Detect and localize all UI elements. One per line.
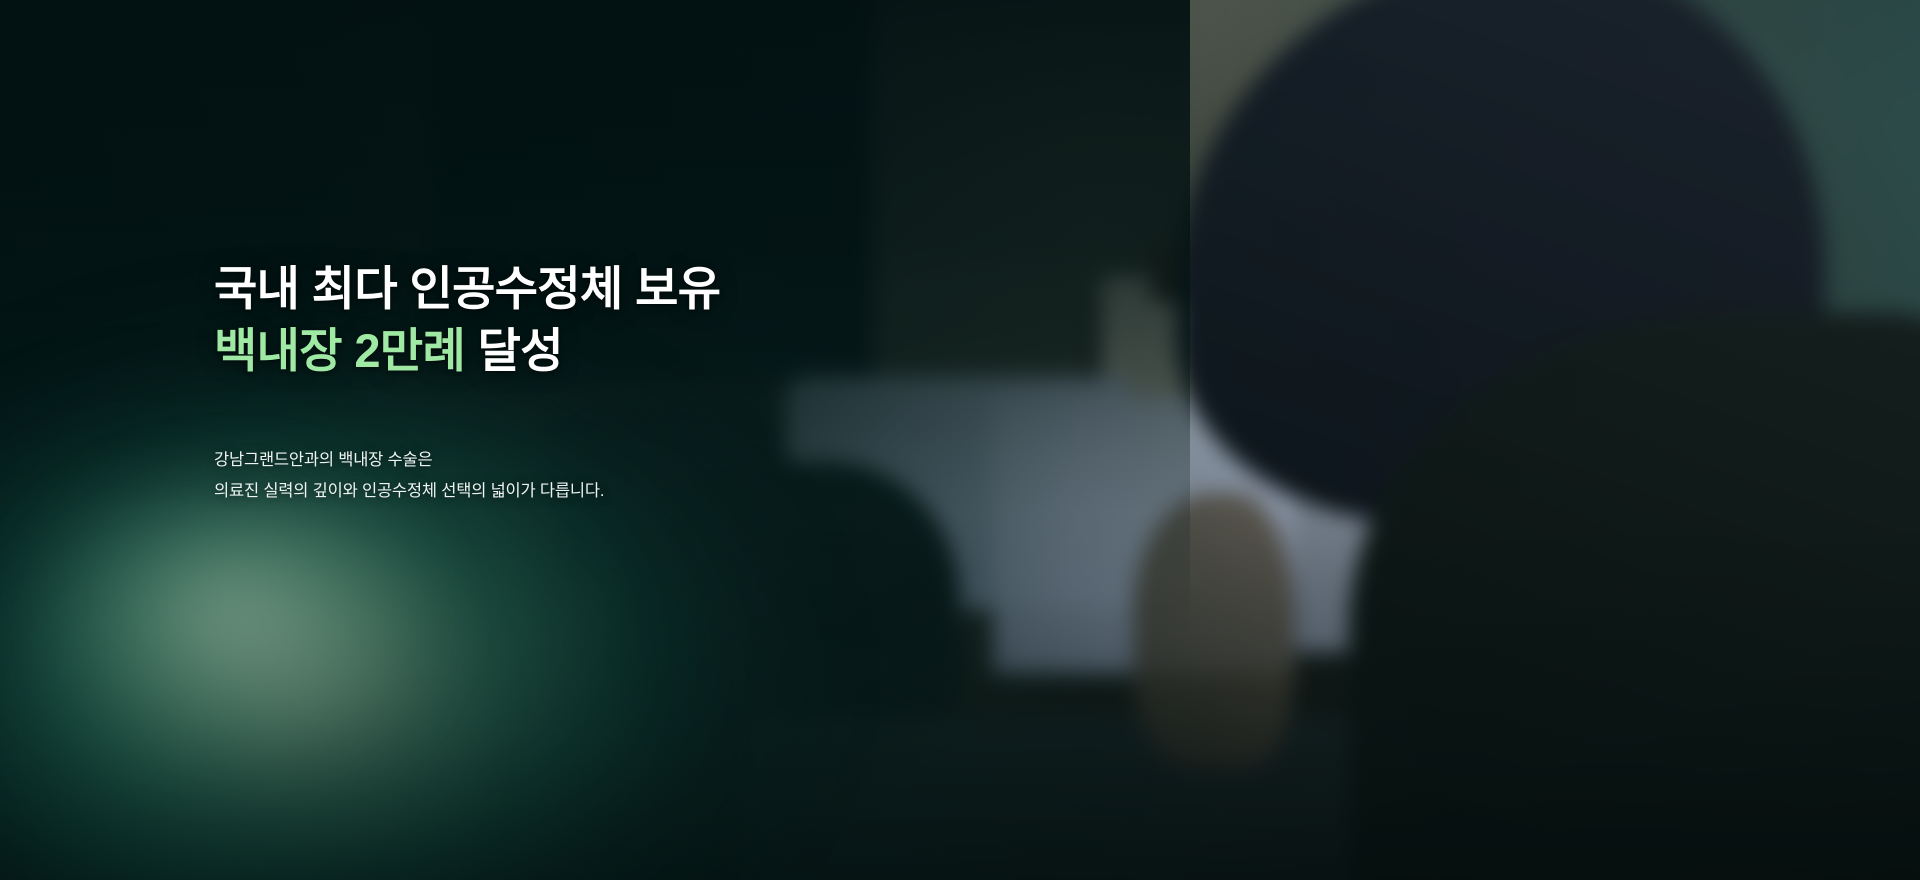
hero-copy: 국내 최다 인공수정체 보유 백내장 2만례 달성 강남그랜드안과의 백내장 수… bbox=[214, 258, 1114, 507]
hero-subtext: 강남그랜드안과의 백내장 수술은 의료진 실력의 깊이와 인공수정체 선택의 넓… bbox=[214, 445, 1114, 506]
headline-line-1: 국내 최다 인공수정체 보유 bbox=[214, 262, 720, 315]
hero-banner: 국내 최다 인공수정체 보유 백내장 2만례 달성 강남그랜드안과의 백내장 수… bbox=[0, 0, 1920, 880]
headline-line-2-rest: 달성 bbox=[465, 324, 563, 377]
subtext-line-1: 강남그랜드안과의 백내장 수술은 bbox=[214, 451, 433, 469]
headline-accent-phrase: 백내장 2만례 bbox=[214, 324, 465, 377]
subtext-line-2: 의료진 실력의 깊이와 인공수정체 선택의 넓이가 다릅니다. bbox=[214, 476, 1114, 507]
hero-headline: 국내 최다 인공수정체 보유 백내장 2만례 달성 bbox=[214, 258, 1114, 381]
